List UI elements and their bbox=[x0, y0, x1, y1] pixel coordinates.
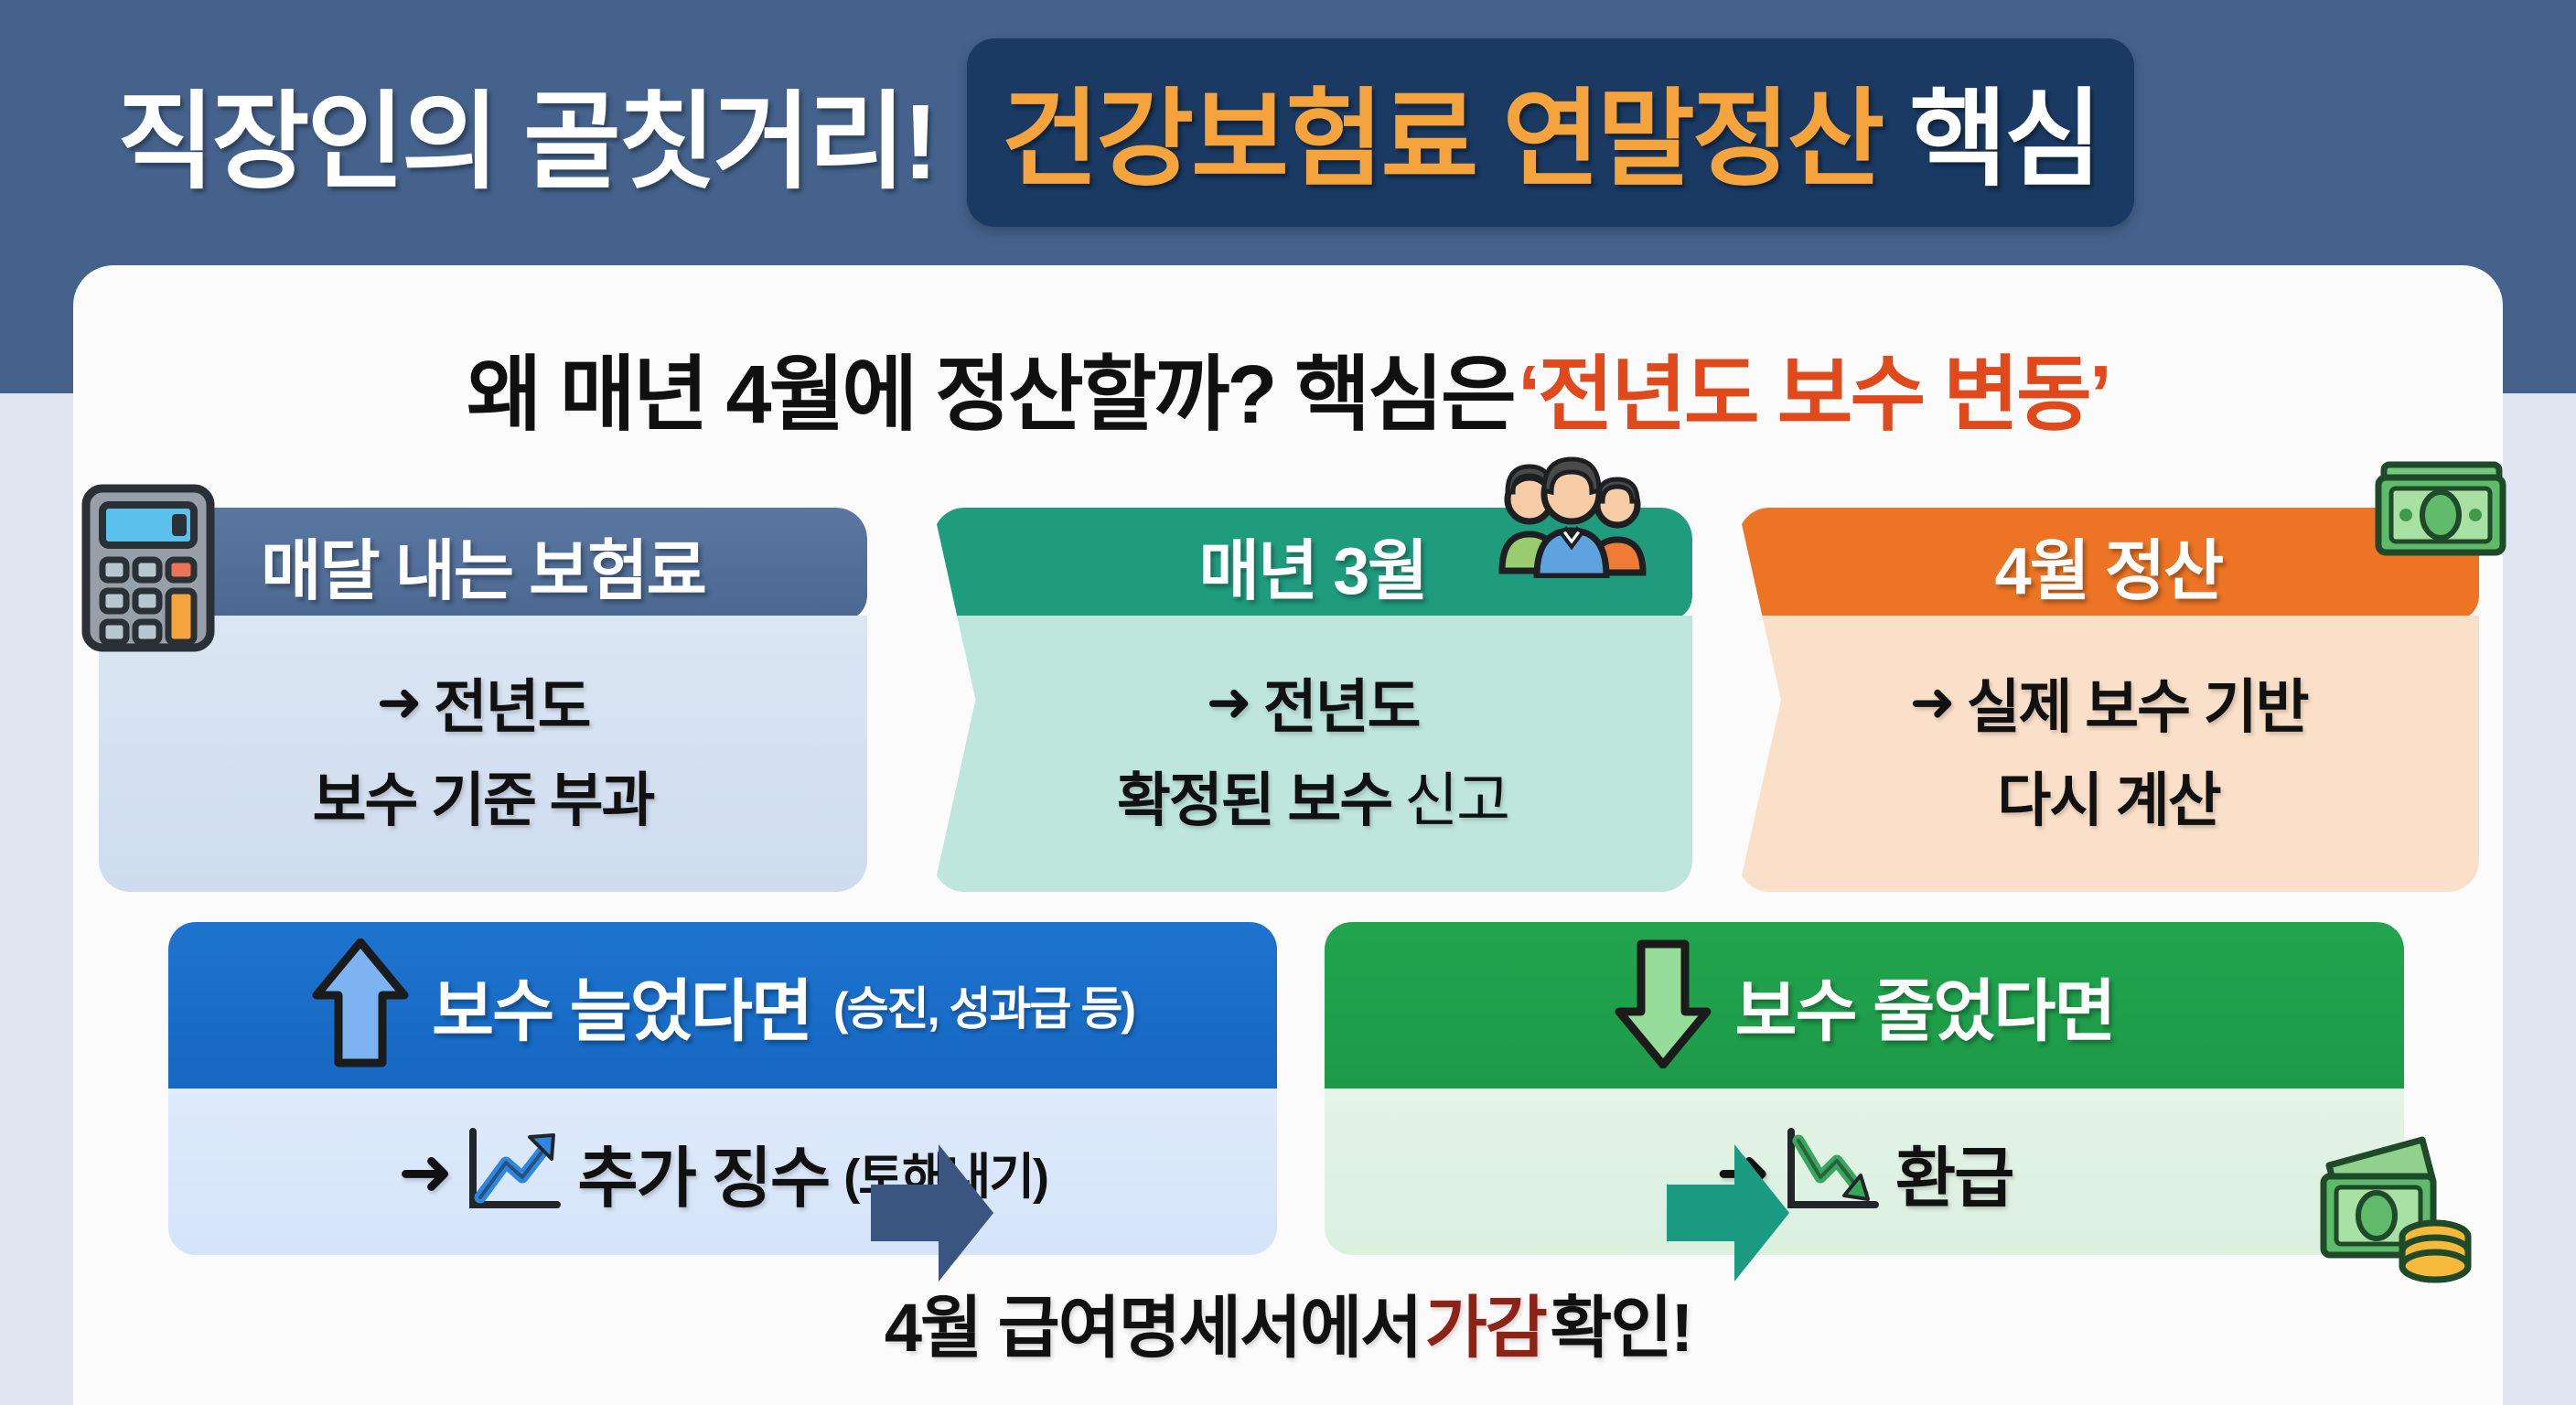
result-panel-decrease[interactable]: 보수 줄었다면 ➜ 환급 bbox=[1325, 922, 2404, 1255]
header: 직장인의 골칫거리! 건강보험료 연말정산 핵심 bbox=[0, 0, 2576, 265]
flow-card-3-title: 4월 정산 bbox=[1995, 517, 2223, 613]
flow-card-april-settlement[interactable]: 4월 정산 ➜ 실제 보수 기반 다시 계산 bbox=[1738, 508, 2479, 892]
result-increase-main: 추가 징수 bbox=[577, 1124, 829, 1220]
result-panel-increase[interactable]: 보수 늘었다면 (승진, 성과급 등) ➜ 추가 징수 (토해내기) bbox=[168, 922, 1277, 1255]
page-title: 직장인의 골칫거리! bbox=[117, 56, 936, 209]
family-icon bbox=[1489, 456, 1650, 583]
footer-note: 4월 급여명세서에서 가감 확인! bbox=[0, 1273, 2576, 1371]
badge-highlight-text: 건강보험료 연말정산 bbox=[1002, 53, 1883, 207]
subtitle-lead: 왜 매년 4월에 정산할까? 핵심은 bbox=[467, 349, 1514, 441]
money-coins-icon bbox=[2320, 1129, 2503, 1289]
subtitle: 왜 매년 4월에 정산할까? 핵심은 ‘전년도 보수 변동’ bbox=[0, 327, 2576, 446]
result-increase-header: 보수 늘었다면 (승진, 성과급 등) bbox=[168, 922, 1277, 1089]
footer-accent: 가감 bbox=[1425, 1290, 1546, 1366]
result-decrease-title: 보수 줄었다면 bbox=[1734, 957, 2114, 1055]
result-increase-body: ➜ 추가 징수 (토해내기) bbox=[168, 1089, 1277, 1255]
flow-card-2-line2-strong: 확정된 보수 bbox=[1117, 754, 1391, 838]
header-badge: 건강보험료 연말정산 핵심 bbox=[967, 38, 2134, 227]
badge-plain-text: 핵심 bbox=[1909, 53, 2098, 207]
up-arrow-icon bbox=[311, 938, 410, 1073]
right-arrow-icon: ➜ bbox=[1909, 670, 1953, 735]
chart-up-icon bbox=[466, 1126, 563, 1218]
calculator-icon bbox=[80, 483, 216, 658]
footer-lead: 4월 급여명세서에서 bbox=[885, 1290, 1421, 1366]
down-arrow-icon bbox=[1614, 938, 1712, 1073]
subtitle-accent: ‘전년도 보수 변동’ bbox=[1518, 349, 2109, 441]
money-bill-icon bbox=[2371, 457, 2510, 566]
result-decrease-main: 환급 bbox=[1895, 1124, 2012, 1220]
flow-card-1-title: 매달 내는 보험료 bbox=[261, 517, 705, 613]
flow-card-3-body: ➜ 실제 보수 기반 다시 계산 bbox=[1738, 616, 2479, 892]
flow-card-1-line1: 전년도 bbox=[434, 660, 590, 745]
flow-card-1-line2: 보수 기준 부과 bbox=[313, 754, 654, 838]
arrow-card1-to-card2-icon bbox=[871, 1137, 995, 1289]
right-arrow-icon: ➜ bbox=[398, 1133, 451, 1210]
flow-card-3-line1: 실제 보수 기반 bbox=[1967, 660, 2308, 745]
arrow-card2-to-card3-icon bbox=[1667, 1137, 1791, 1289]
flow-card-2-body: ➜ 전년도 확정된 보수 신고 bbox=[933, 616, 1692, 892]
result-decrease-header: 보수 줄었다면 bbox=[1325, 922, 2404, 1089]
flow-card-2-line1: 전년도 bbox=[1263, 660, 1420, 745]
right-arrow-icon: ➜ bbox=[1207, 670, 1250, 735]
result-increase-note: (승진, 성과급 등) bbox=[833, 972, 1134, 1038]
chart-down-icon bbox=[1784, 1126, 1881, 1218]
result-increase-title: 보수 늘었다면 bbox=[432, 957, 811, 1055]
flow-card-2-line2-thin: 신고 bbox=[1404, 754, 1508, 838]
footer-tail: 확인! bbox=[1550, 1290, 1691, 1366]
right-arrow-icon: ➜ bbox=[377, 670, 421, 735]
flow-row: 매달 내는 보험료 ➜ 전년도 보수 기준 부과 매년 3월 ➜ 전년 bbox=[0, 508, 2576, 892]
result-decrease-body: ➜ 환급 bbox=[1325, 1089, 2404, 1255]
flow-card-3-header: 4월 정산 bbox=[1738, 508, 2479, 621]
flow-card-2-title: 매년 3월 bbox=[1199, 517, 1427, 613]
flow-card-3-line2: 다시 계산 bbox=[1997, 754, 2219, 838]
